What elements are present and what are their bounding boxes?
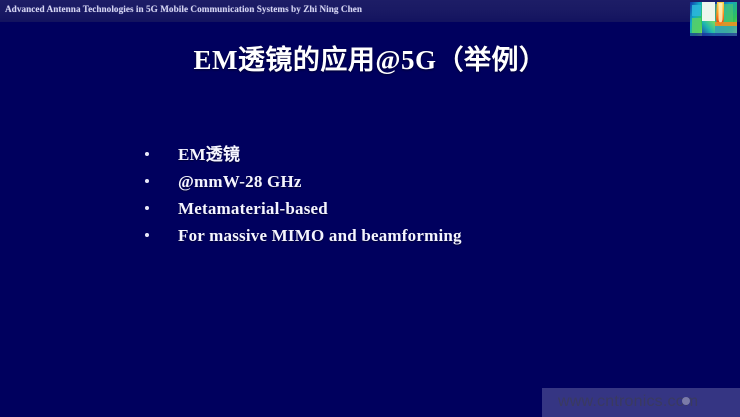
presentation-title: Advanced Antenna Technologies in 5G Mobi… bbox=[5, 3, 645, 16]
watermark-label: www.cntronics.com bbox=[558, 393, 698, 411]
list-item: Metamaterial-based bbox=[140, 195, 700, 222]
slide-title: EM透镜的应用@5G（举例） bbox=[0, 41, 740, 79]
list-item-label: @mmW-28 GHz bbox=[178, 168, 302, 195]
list-item: EM透镜 bbox=[140, 141, 700, 168]
bullet-marker-icon bbox=[145, 179, 149, 183]
list-item-label: For massive MIMO and beamforming bbox=[178, 222, 462, 249]
em-field-simulation-thumbnail-icon bbox=[690, 2, 737, 36]
list-item: @mmW-28 GHz bbox=[140, 168, 700, 195]
list-item-label: Metamaterial-based bbox=[178, 195, 328, 222]
slide-canvas: Advanced Antenna Technologies in 5G Mobi… bbox=[0, 0, 740, 417]
list-item-label: EM透镜 bbox=[178, 141, 240, 168]
site-watermark: www.cntronics.com bbox=[542, 388, 740, 417]
bullet-marker-icon bbox=[145, 233, 149, 237]
registered-mark-icon bbox=[682, 397, 690, 405]
bullet-marker-icon bbox=[145, 206, 149, 210]
bullet-list: EM透镜 @mmW-28 GHz Metamaterial-based For … bbox=[140, 141, 700, 249]
list-item: For massive MIMO and beamforming bbox=[140, 222, 700, 249]
bullet-marker-icon bbox=[145, 152, 149, 156]
